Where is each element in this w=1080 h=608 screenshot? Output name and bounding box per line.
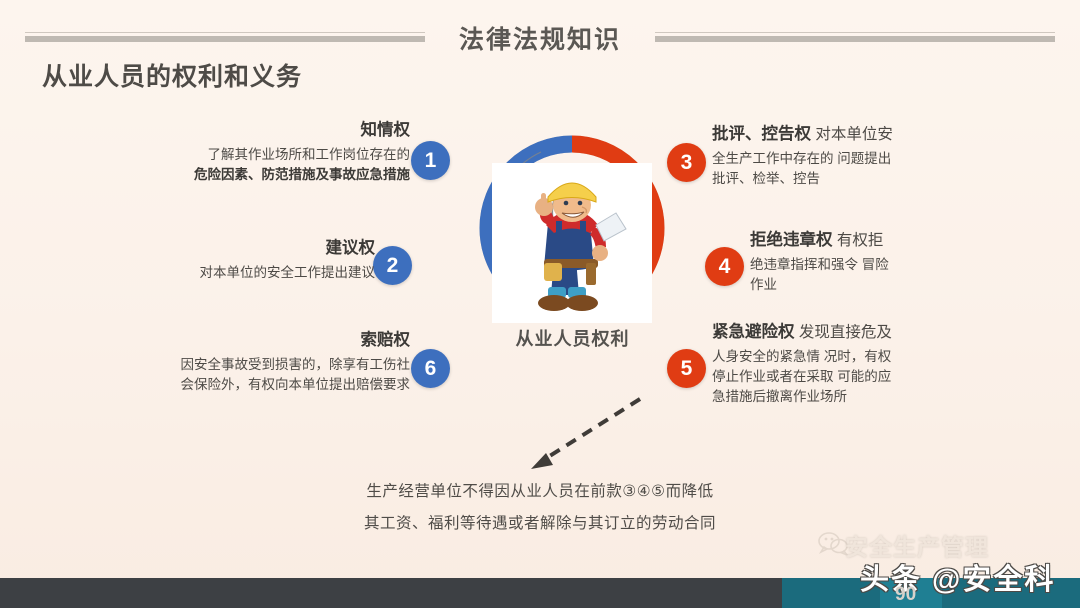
item-4-head-tail: 有权拒 [837, 232, 884, 249]
item-6-line-1: 因安全事故受到损害的，除享有工伤社 [95, 355, 410, 375]
item-5-head-tail: 发现直接危及 [799, 324, 892, 341]
bottom-note-line-1: 生产经营单位不得因从业人员在前款③④⑤而降低 [0, 476, 1080, 508]
slide-canvas: 法律法规知识 从业人员的权利和义务 [0, 0, 1080, 608]
item-6-title: 索赔权 [361, 331, 411, 349]
item-6-right-to-claim: 索赔权 因安全事故受到损害的，除享有工伤社 会保险外，有权向本单位提出赔偿要求 [95, 328, 410, 395]
badge-1[interactable]: 1 [411, 141, 450, 180]
badge-5[interactable]: 5 [667, 349, 706, 388]
badge-3[interactable]: 3 [667, 143, 706, 182]
item-5-line-2: 停止作业或者在采取 可能的应 [712, 367, 1042, 387]
item-1-right-to-know: 知情权 了解其作业场所和工作岗位存在的 危险因素、防范措施及事故应急措施 [105, 118, 410, 185]
item-1-line-1: 了解其作业场所和工作岗位存在的 [105, 145, 410, 165]
item-5-line-1: 人身安全的紧急情 况时，有权 [712, 347, 1042, 367]
item-4-right-to-refuse: 拒绝违章权 有权拒 绝违章指挥和强令 冒险 作业 [750, 228, 1040, 295]
item-4-line-2: 作业 [750, 275, 1040, 295]
item-2-title: 建议权 [326, 239, 376, 257]
item-5-line-3: 急措施后撤离作业场所 [712, 387, 1042, 407]
item-5-title: 紧急避险权 [712, 323, 795, 341]
toutiao-watermark-text: 头条 @安全科 [860, 556, 1055, 598]
item-3-line-2: 批评、检举、控告 [712, 169, 1042, 189]
ring-caption: 从业人员权利 [455, 325, 690, 351]
dashed-arrow-down-left-icon [515, 395, 645, 480]
badge-2[interactable]: 2 [373, 246, 412, 285]
item-3-line-1: 全生产工作中存在的 问题提出 [712, 149, 1042, 169]
page-title: 从业人员的权利和义务 [42, 57, 302, 93]
center-ring: 从业人员权利 [455, 128, 690, 383]
item-4-line-1: 绝违章指挥和强令 冒险 [750, 255, 1040, 275]
badge-4[interactable]: 4 [705, 247, 744, 286]
page-number: 90 [895, 584, 916, 606]
item-5-right-to-emergency-escape: 紧急避险权 发现直接危及 人身安全的紧急情 况时，有权 停止作业或者在采取 可能… [712, 320, 1042, 408]
worker-cartoon-image [492, 163, 652, 323]
item-3-title: 批评、控告权 [712, 125, 811, 143]
item-2-right-to-suggest: 建议权 对本单位的安全工作提出建议 [105, 236, 375, 283]
badge-6[interactable]: 6 [411, 349, 450, 388]
item-3-head-tail: 对本单位安 [815, 126, 893, 143]
header-title: 法律法规知识 [0, 20, 1080, 56]
item-1-title: 知情权 [361, 121, 411, 139]
item-4-title: 拒绝违章权 [750, 231, 833, 249]
item-3-right-to-criticize: 批评、控告权 对本单位安 全生产工作中存在的 问题提出 批评、检举、控告 [712, 122, 1042, 189]
item-6-line-2: 会保险外，有权向本单位提出赔偿要求 [95, 375, 410, 395]
item-2-line-1: 对本单位的安全工作提出建议 [105, 263, 375, 283]
item-1-line-2: 危险因素、防范措施及事故应急措施 [105, 165, 410, 185]
wechat-icon [818, 532, 848, 561]
